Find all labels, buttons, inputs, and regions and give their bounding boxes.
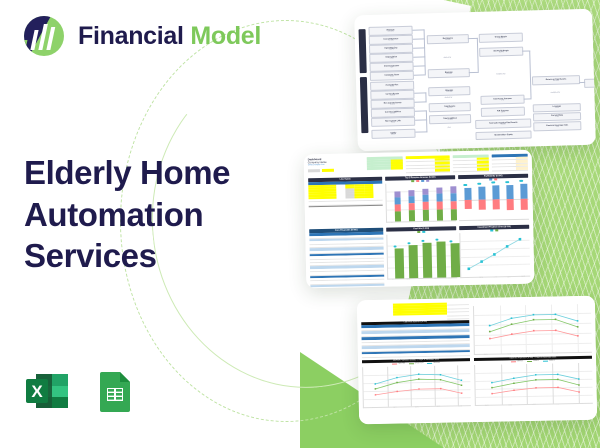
file-format-icons: X (24, 368, 138, 414)
expenses-projection-chart: 20X120X220X320X420X5 (474, 363, 593, 411)
slide-canvas: Financial Model Elderly Home Automation … (0, 0, 600, 448)
investment-payback-chart: Investment Payback Chart ($ 000) (459, 224, 530, 281)
page-title-line-1: Elderly Home (24, 152, 274, 194)
financial-model-circle-chart-logo (22, 14, 66, 58)
live-inputs-table: Live Inputs (308, 176, 383, 226)
screenshot-card-dashboard[interactable]: Dashboard Company Name www.example.com (304, 150, 535, 289)
page-title: Elderly Home Automation Services (24, 152, 274, 277)
brand-name-part2: Model (190, 22, 261, 50)
cash-flow-statement-table: Cash Flow Statement ($ 000) (361, 302, 470, 358)
core-financials-table: Core Financials ($ 000) (309, 227, 384, 285)
brand-name-part1: Financial (78, 22, 184, 50)
brand-name: Financial Model (78, 22, 261, 51)
profitability-chart: Profitability ($ 000) (458, 173, 529, 222)
page-title-line-3: Services (24, 235, 274, 277)
revenue-projection-chart-2: 20X120X220X320X420X5 (362, 365, 471, 413)
svg-text:X: X (31, 382, 43, 401)
brand-logo: Financial Model (22, 14, 261, 58)
microsoft-excel-icon[interactable]: X (24, 368, 70, 414)
google-sheets-icon[interactable] (92, 368, 138, 414)
cost-mix-chart: Cost Mix ($ 000) 55 (386, 226, 457, 283)
top-5-revenue-streams-chart: Top 5 Revenue Streams ($ 000) (385, 175, 456, 224)
screenshot-card-dupont-flowchart[interactable]: Revenue123,456 Cost of Revenue-67,890 Op… (354, 9, 596, 152)
screenshot-card-statements-charts[interactable]: Cash Flow Statement ($ 000) (357, 296, 597, 425)
page-title-line-2: Automation (24, 194, 274, 236)
revenue-projection-chart-1: 20X120X220X320X420X5 (473, 300, 592, 356)
